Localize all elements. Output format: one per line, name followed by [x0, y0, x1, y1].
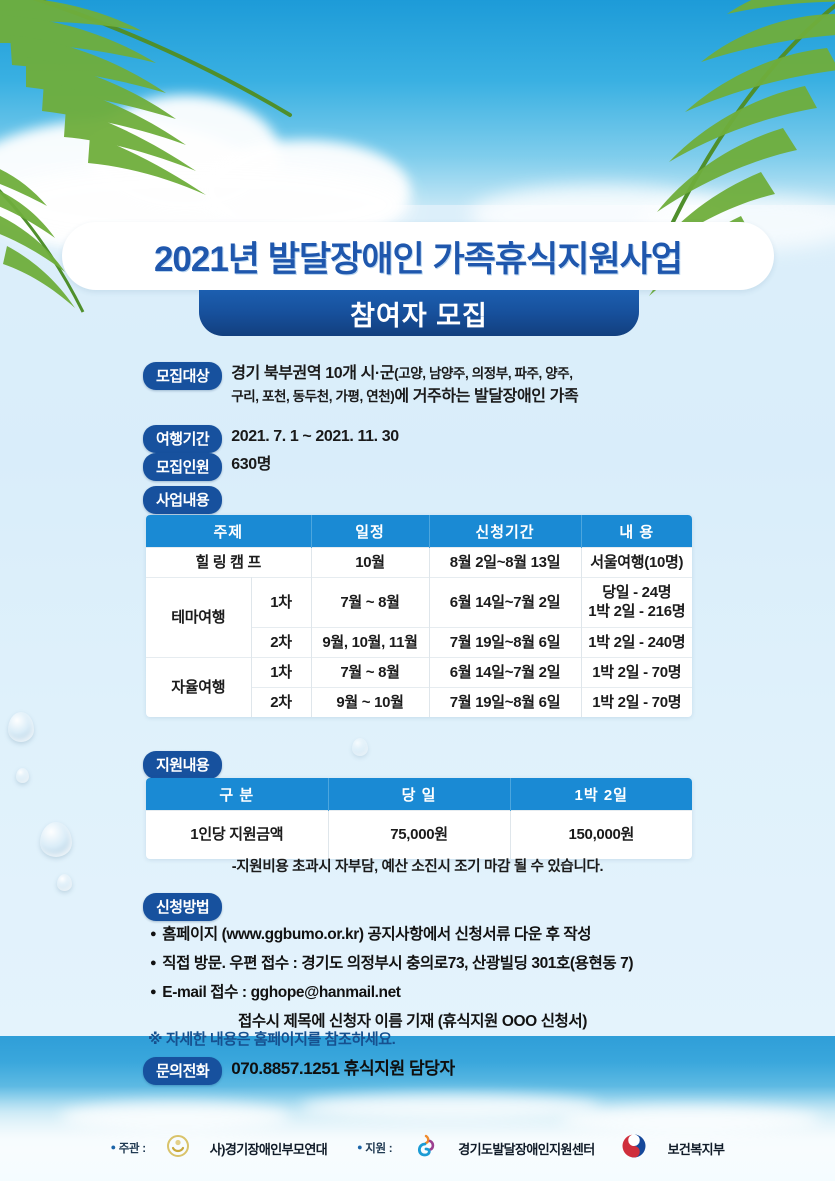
th-schedule: 일정 — [311, 515, 429, 548]
water-drop-icon — [16, 768, 29, 783]
table-row: 1인당 지원금액 75,000원 150,000원 — [146, 811, 692, 860]
foam-shape — [300, 1094, 600, 1120]
label-contact: 문의전화 — [143, 1057, 222, 1085]
cell-schedule: 7월 ~ 8월 — [311, 578, 429, 627]
cell-apply-period: 7월 19일~8월 6일 — [429, 687, 581, 717]
info-row-period: 여행기간 2021. 7. 1 ~ 2021. 11. 30 — [143, 425, 399, 453]
cell-theme: 힐 링 캠 프 — [146, 548, 311, 578]
support-label-text: 지원 : — [365, 1143, 392, 1155]
table-row: 힐 링 캠 프 10월 8월 2일~8월 13일 서울여행(10명) — [146, 548, 692, 578]
apply-method-list: ●홈페이지 (www.ggbumo.or.kr) 공지사항에서 신청서류 다운 … — [150, 925, 790, 1031]
value-contact: 070.8857.1251 휴식지원 담당자 — [231, 1057, 455, 1082]
water-drop-icon — [40, 822, 72, 857]
footer-host-label: ●주관 : — [111, 1140, 146, 1156]
cell-schedule: 9월, 10월, 11월 — [311, 627, 429, 657]
page-title: 2021년 발달장애인 가족휴식지원사업 — [154, 231, 682, 282]
bullet-icon: ● — [150, 986, 156, 998]
cell-theme: 테마여행 — [146, 578, 251, 658]
cell-phase: 2차 — [251, 687, 311, 717]
th-overnight: 1박 2일 — [510, 778, 692, 811]
target-region: 경기 북부권역 10개 시·군 — [231, 365, 394, 382]
content-line-1: 당일 - 24명 — [602, 584, 671, 601]
cell-phase: 2차 — [251, 627, 311, 657]
apply-reference-note: ※ 자세한 내용은 홈페이지를 참조하세요. — [148, 1028, 395, 1049]
table-header-row: 구 분 당 일 1박 2일 — [146, 778, 692, 811]
poster-root: 2021년 발달장애인 가족휴식지원사업 참여자 모집 모집대상 경기 북부권역… — [0, 0, 835, 1181]
section-label-support: 지원내용 — [143, 751, 222, 779]
label-target: 모집대상 — [143, 362, 222, 390]
program-table: 주제 일정 신청기간 내 용 힐 링 캠 프 10월 8월 2일~8월 13일 … — [146, 515, 692, 717]
bullet-icon: ● — [150, 928, 156, 940]
cell-content: 1박 2일 - 70명 — [581, 687, 692, 717]
water-drop-icon — [8, 712, 34, 742]
cell-phase: 1차 — [251, 657, 311, 687]
poster-title-band: 2021년 발달장애인 가족휴식지원사업 — [62, 222, 774, 290]
info-row-target: 모집대상 경기 북부권역 10개 시·군(고양, 남양주, 의정부, 파주, 양… — [143, 362, 723, 408]
cell-apply-period: 8월 2일~8월 13일 — [429, 548, 581, 578]
table-row: 자율여행 1차 7월 ~ 8월 6월 14일~7월 2일 1박 2일 - 70명 — [146, 657, 692, 687]
value-period: 2021. 7. 1 ~ 2021. 11. 30 — [231, 425, 399, 448]
cell-apply-period: 6월 14일~7월 2일 — [429, 657, 581, 687]
cell-schedule: 9월 ~ 10월 — [311, 687, 429, 717]
footer-support-label: ●지원 : — [357, 1140, 392, 1156]
th-theme: 주제 — [146, 515, 311, 548]
label-count: 모집인원 — [143, 453, 222, 481]
cell-category: 1인당 지원금액 — [146, 811, 328, 860]
dot-icon: ● — [357, 1142, 362, 1152]
mohw-taegeuk-logo-icon — [621, 1133, 647, 1164]
table-row: 테마여행 1차 7월 ~ 8월 6월 14일~7월 2일 당일 - 24명 1박… — [146, 578, 692, 627]
poster-subtitle-band: 참여자 모집 — [199, 290, 639, 336]
value-target: 경기 북부권역 10개 시·군(고양, 남양주, 의정부, 파주, 양주, 구리… — [231, 362, 578, 408]
apply-section-pill: 신청방법 — [143, 893, 222, 921]
cell-content: 1박 2일 - 70명 — [581, 657, 692, 687]
section-label-apply: 신청방법 — [143, 893, 222, 921]
list-item: ●홈페이지 (www.ggbumo.or.kr) 공지사항에서 신청서류 다운 … — [150, 925, 790, 945]
ggbumo-logo-icon — [167, 1135, 189, 1162]
th-category: 구 분 — [146, 778, 328, 811]
footer-ministry-name: 보건복지부 — [668, 1139, 725, 1158]
support-section-pill: 지원내용 — [143, 751, 222, 779]
cell-schedule: 7월 ~ 8월 — [311, 657, 429, 687]
cell-content: 서울여행(10명) — [581, 548, 692, 578]
cell-apply-period: 7월 19일~8월 6일 — [429, 627, 581, 657]
section-label-program: 사업내용 — [143, 486, 222, 514]
bullet-icon: ● — [150, 957, 156, 969]
list-item: ●E-mail 접수 : gghope@hanmail.net — [150, 983, 790, 1003]
list-item: ●직접 방문. 우편 접수 : 경기도 의정부시 충의로73, 산광빌딩 301… — [150, 954, 790, 974]
program-section-pill: 사업내용 — [143, 486, 222, 514]
water-drop-icon — [352, 738, 368, 756]
cell-apply-period: 6월 14일~7월 2일 — [429, 578, 581, 627]
water-drop-icon — [57, 874, 72, 891]
table-header-row: 주제 일정 신청기간 내 용 — [146, 515, 692, 548]
th-day-trip: 당 일 — [328, 778, 510, 811]
cell-schedule: 10월 — [311, 548, 429, 578]
cell-overnight: 150,000원 — [510, 811, 692, 860]
cell-day-trip: 75,000원 — [328, 811, 510, 860]
cell-theme: 자율여행 — [146, 657, 251, 717]
page-subtitle: 참여자 모집 — [350, 294, 488, 333]
support-table: 구 분 당 일 1박 2일 1인당 지원금액 75,000원 150,000원 — [146, 778, 692, 859]
target-suffix: 에 거주하는 발달장애인 가족 — [394, 388, 578, 405]
th-content: 내 용 — [581, 515, 692, 548]
target-cities-2: 구리, 포천, 동두천, 가평, 연천) — [231, 389, 394, 404]
host-label-text: 주관 : — [119, 1143, 146, 1155]
info-row-contact: 문의전화 070.8857.1251 휴식지원 담당자 — [143, 1057, 455, 1085]
cell-content: 1박 2일 - 240명 — [581, 627, 692, 657]
footer-host-name: 사)경기장애인부모연대 — [210, 1139, 327, 1158]
info-row-count: 모집인원 630명 — [143, 453, 271, 481]
dot-icon: ● — [111, 1142, 116, 1152]
apply-item-text: E-mail 접수 : gghope@hanmail.net — [162, 984, 400, 1001]
label-period: 여행기간 — [143, 425, 222, 453]
content-line-2: 1박 2일 - 216명 — [588, 603, 685, 620]
support-note: -지원비용 초과시 자부담, 예산 소진시 조기 마감 될 수 있습니다. — [0, 855, 835, 876]
th-apply-period: 신청기간 — [429, 515, 581, 548]
apply-item-text: 홈페이지 (www.ggbumo.or.kr) 공지사항에서 신청서류 다운 후… — [162, 926, 591, 943]
ggdd-center-logo-icon — [413, 1134, 437, 1163]
apply-item-text: 직접 방문. 우편 접수 : 경기도 의정부시 충의로73, 산광빌딩 301호… — [162, 955, 633, 972]
footer-support-name: 경기도발달장애인지원센터 — [458, 1139, 594, 1158]
cell-content: 당일 - 24명 1박 2일 - 216명 — [581, 578, 692, 627]
footer-logos: ●주관 : 사)경기장애인부모연대 ●지원 : 경기도발달장애인지원센터 — [0, 1128, 835, 1168]
value-count: 630명 — [231, 453, 271, 476]
target-cities-1: (고양, 남양주, 의정부, 파주, 양주, — [394, 366, 573, 381]
cell-phase: 1차 — [251, 578, 311, 627]
